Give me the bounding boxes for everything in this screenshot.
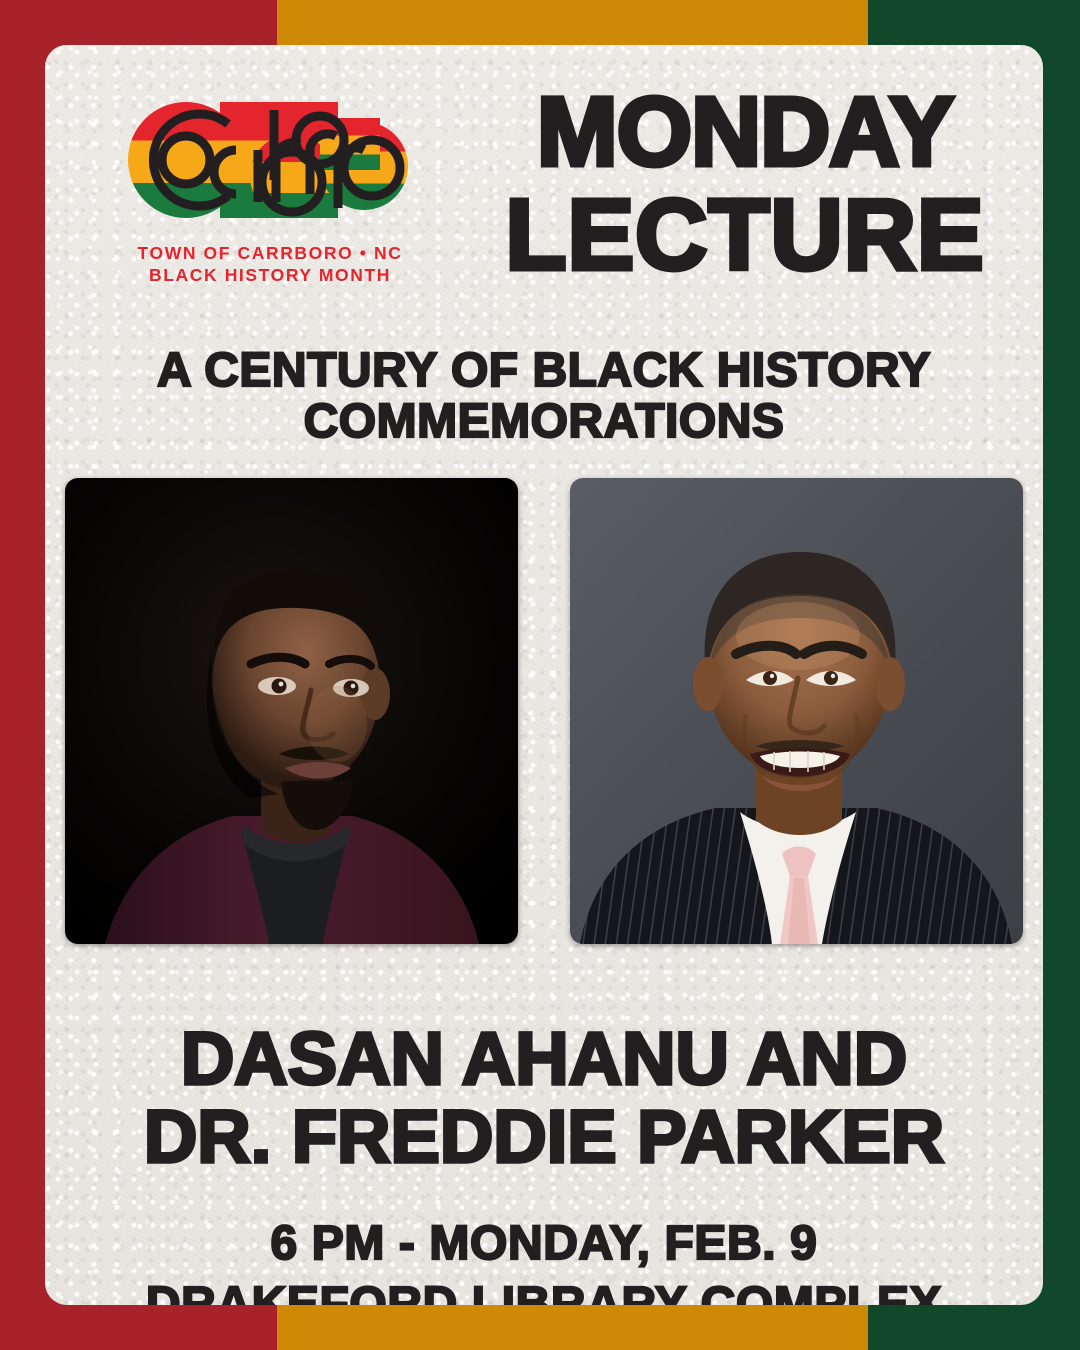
page-title: MONDAY LECTURE <box>440 85 1043 284</box>
logo-caption-line2: BLACK HISTORY MONTH <box>115 264 425 286</box>
carrboro-wordmark-icon <box>124 90 416 230</box>
freddie-parker-photo-illustration <box>570 478 1023 944</box>
poster-header: TOWN OF CARRBORO • NC BLACK HISTORY MONT… <box>45 45 1043 345</box>
lecture-topic-line2: COMMEMORATIONS <box>45 396 1043 447</box>
speaker-name-line2: DR. FREDDIE PARKER <box>45 1098 1043 1176</box>
event-poster: TOWN OF CARRBORO • NC BLACK HISTORY MONT… <box>0 0 1080 1350</box>
event-time-date: 6 PM - MONDAY, FEB. 9 <box>271 1217 818 1270</box>
title-line-lecture: LECTURE <box>440 187 1043 284</box>
poster-card: TOWN OF CARRBORO • NC BLACK HISTORY MONT… <box>45 45 1043 1305</box>
dasan-ahanu-photo-illustration <box>65 478 518 944</box>
event-venue: DRAKEFORD LIBRARY COMPLEX <box>45 1274 1043 1305</box>
speaker-names: DASAN AHANU AND DR. FREDDIE PARKER <box>45 1020 1043 1177</box>
freddie-parker-portrait <box>570 478 1023 944</box>
dasan-ahanu-portrait <box>65 478 518 944</box>
title-line-monday: MONDAY <box>440 85 1043 179</box>
logo-caption: TOWN OF CARRBORO • NC BLACK HISTORY MONT… <box>115 242 425 287</box>
lecture-topic-line1: A CENTURY OF BLACK HISTORY <box>157 344 931 397</box>
carrboro-bhm-logo: TOWN OF CARRBORO • NC BLACK HISTORY MONT… <box>115 90 425 287</box>
logo-caption-line1: TOWN OF CARRBORO • NC <box>115 242 425 264</box>
event-details: 6 PM - MONDAY, FEB. 9 DRAKEFORD LIBRARY … <box>45 1213 1043 1305</box>
speaker-name-line1: DASAN AHANU AND <box>181 1017 907 1100</box>
lecture-topic: A CENTURY OF BLACK HISTORY COMMEMORATION… <box>45 345 1043 448</box>
speaker-photos <box>65 478 1023 944</box>
